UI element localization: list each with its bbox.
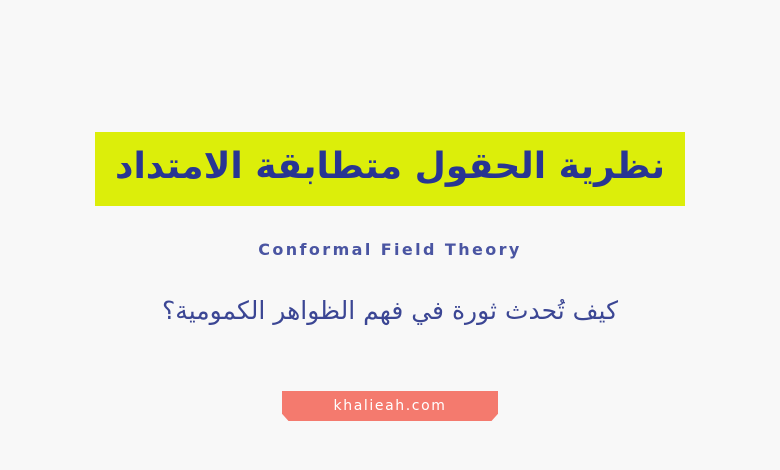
footer-badge-row: khalieah.com [0, 391, 780, 421]
website-badge[interactable]: khalieah.com [282, 391, 498, 421]
poster-canvas: نظرية الحقول متطابقة الامتداد Conformal … [0, 0, 780, 470]
question-arabic: كيف تُحدث ثورة في فهم الظواهر الكمومية؟ [0, 295, 780, 328]
title-block: نظرية الحقول متطابقة الامتداد [0, 108, 780, 230]
subtitle-english: Conformal Field Theory [0, 240, 780, 259]
page-title: نظرية الحقول متطابقة الامتداد [95, 132, 685, 206]
